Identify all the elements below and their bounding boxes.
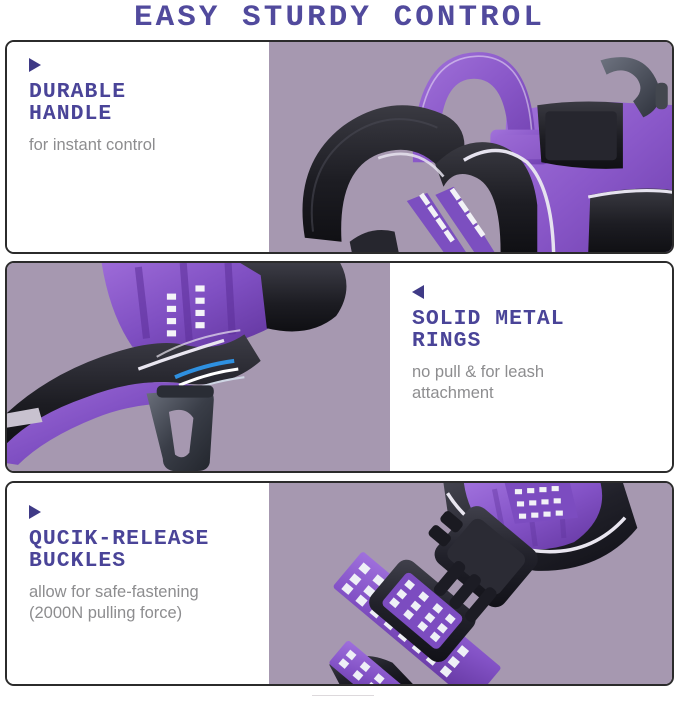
product-photo-buckle	[269, 483, 672, 684]
feature-subtitle: no pull & for leash attachment	[412, 362, 544, 404]
feature-heading: QUCIK-RELEASE BUCKLES	[29, 529, 209, 573]
triangle-right-icon	[29, 58, 41, 72]
footer-divider	[312, 695, 374, 696]
triangle-left-icon	[412, 285, 424, 299]
product-photo-handle	[269, 42, 672, 252]
page-title: EASY STURDY CONTROL	[134, 3, 545, 33]
feature-heading: SOLID METAL RINGS	[412, 309, 565, 353]
feature-text-block: SOLID METAL RINGS no pull & for leash at…	[390, 263, 672, 471]
triangle-right-icon	[29, 505, 41, 519]
feature-text-block: DURABLE HANDLE for instant control	[7, 42, 269, 252]
feature-panel-solid-metal-rings: SOLID METAL RINGS no pull & for leash at…	[5, 261, 674, 473]
feature-subtitle: for instant control	[29, 135, 156, 156]
page-title-bar: EASY STURDY CONTROL	[0, 0, 679, 36]
product-photo-dring	[7, 263, 390, 471]
feature-text-block: QUCIK-RELEASE BUCKLES allow for safe-fas…	[7, 483, 269, 684]
feature-heading: DURABLE HANDLE	[29, 82, 126, 126]
feature-panel-durable-handle: DURABLE HANDLE for instant control	[5, 40, 674, 254]
feature-subtitle: allow for safe-fastening (2000N pulling …	[29, 582, 199, 624]
feature-panel-quick-release-buckles: QUCIK-RELEASE BUCKLES allow for safe-fas…	[5, 481, 674, 686]
